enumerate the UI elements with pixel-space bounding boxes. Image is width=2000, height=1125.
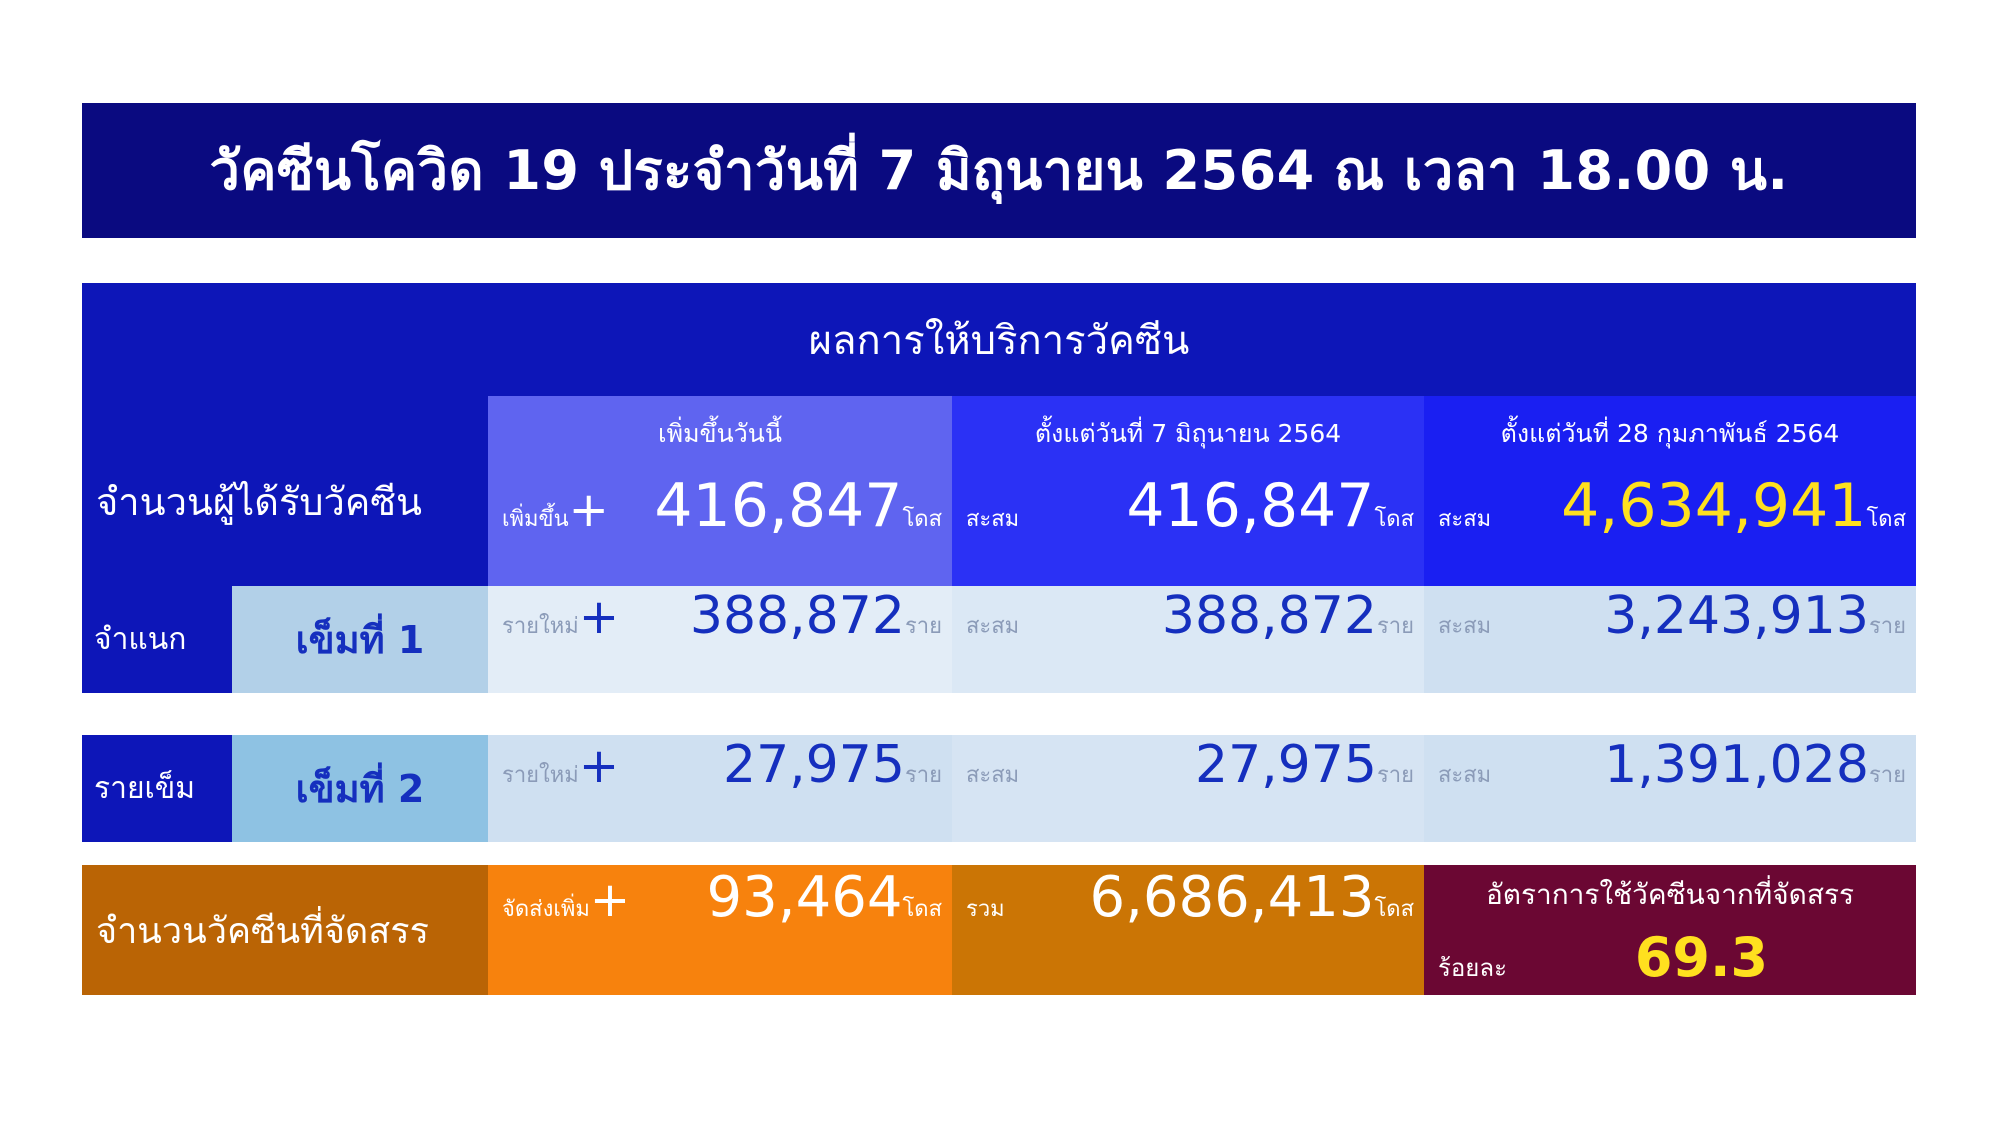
value-recipients-since-start: 4,634,941 — [1491, 471, 1866, 541]
utilization-rate-value: 69.3 — [1507, 926, 1896, 989]
cell-recipients-since-day: สะสม 416,847 โดส — [952, 471, 1424, 586]
column-header-today: เพิ่มขึ้นวันนี้ — [488, 396, 952, 471]
row-label-recipients-text: จำนวนผู้ได้รับวัคซีน — [96, 471, 422, 532]
tag-dose1-since-day: สะสม — [966, 608, 1019, 643]
cell-dose1-today: รายใหม่ + 388,872 ราย — [488, 586, 952, 693]
utilization-rate-box: อัตราการใช้วัคซีนจากที่จัดสรร ร้อยละ 69.… — [1424, 865, 1916, 995]
unit-recipients-since-day: โดส — [1374, 501, 1414, 536]
row-label-recipients: จำนวนผู้ได้รับวัคซีน — [82, 471, 488, 586]
plus-sign-allocated-today: + — [590, 872, 630, 928]
unit-allocated-today: โดส — [902, 891, 942, 926]
row-label-dose-2-text: เข็มที่ 2 — [296, 758, 425, 819]
value-dose2-today: 27,975 — [619, 735, 905, 795]
unit-recipients-today: โดส — [902, 501, 942, 536]
unit-dose2-today: ราย — [905, 757, 942, 792]
cell-recipients-today: เพิ่มขึ้น + 416,847 โดส — [488, 471, 952, 586]
utilization-rate-tag: ร้อยละ — [1438, 948, 1507, 987]
row-label-dose-1-text: เข็มที่ 1 — [296, 609, 425, 670]
tag-recipients-since-day: สะสม — [966, 501, 1019, 536]
cell-dose2-since-day: สะสม 27,975 ราย — [952, 735, 1424, 842]
unit-dose2-since-start: ราย — [1869, 757, 1906, 792]
page-title: วัคซีนโควิด 19 ประจำวันที่ 7 มิถุนายน 25… — [210, 141, 1789, 200]
row-label-per-dose-text: รายเข็ม — [94, 765, 195, 812]
tag-dose2-today: รายใหม่ — [502, 757, 579, 792]
unit-recipients-since-start: โดส — [1866, 501, 1906, 536]
column-header-spacer — [82, 396, 488, 471]
tag-dose2-since-start: สะสม — [1438, 757, 1491, 792]
value-recipients-today: 416,847 — [609, 471, 903, 541]
value-dose2-since-day: 27,975 — [1019, 735, 1377, 795]
vaccination-report-page: วัคซีนโควิด 19 ประจำวันที่ 7 มิถุนายน 25… — [0, 0, 2000, 1125]
cell-recipients-since-start: สะสม 4,634,941 โดส — [1424, 471, 1916, 586]
tag-allocated-today: จัดส่งเพิ่ม — [502, 891, 590, 926]
tag-dose1-since-start: สะสม — [1438, 608, 1491, 643]
cell-allocated-total: รวม 6,686,413 โดส — [952, 865, 1424, 995]
tag-dose1-today: รายใหม่ — [502, 608, 579, 643]
row-label-dose-1: เข็มที่ 1 — [232, 586, 488, 693]
row-label-allocated: จำนวนวัคซีนที่จัดสรร — [82, 865, 488, 995]
tag-recipients-today: เพิ่มขึ้น — [502, 501, 569, 536]
column-header-since-day: ตั้งแต่วันที่ 7 มิถุนายน 2564 — [952, 396, 1424, 471]
cell-dose2-since-start: สะสม 1,391,028 ราย — [1424, 735, 1916, 842]
value-allocated-total: 6,686,413 — [1005, 865, 1375, 930]
unit-dose1-since-day: ราย — [1377, 608, 1414, 643]
row-label-breakdown-text: จำแนก — [94, 616, 186, 663]
column-header-since-start: ตั้งแต่วันที่ 28 กุมภาพันธ์ 2564 — [1424, 396, 1916, 471]
unit-dose1-since-start: ราย — [1869, 608, 1906, 643]
utilization-rate-line: ร้อยละ 69.3 — [1438, 926, 1896, 989]
unit-allocated-total: โดส — [1374, 891, 1414, 926]
row-label-dose-2: เข็มที่ 2 — [232, 735, 488, 842]
value-recipients-since-day: 416,847 — [1019, 471, 1374, 541]
value-dose1-today: 388,872 — [619, 586, 905, 646]
row-label-per-dose: รายเข็ม — [82, 735, 232, 842]
row-label-allocated-text: จำนวนวัคซีนที่จัดสรร — [96, 902, 429, 959]
value-allocated-today: 93,464 — [630, 865, 902, 930]
report-title-banner: วัคซีนโควิด 19 ประจำวันที่ 7 มิถุนายน 25… — [82, 103, 1916, 238]
plus-sign-dose1-today: + — [579, 589, 619, 645]
unit-dose1-today: ราย — [905, 608, 942, 643]
plus-sign-recipients-today: + — [569, 482, 609, 538]
cell-dose2-today: รายใหม่ + 27,975 ราย — [488, 735, 952, 842]
cell-allocated-today: จัดส่งเพิ่ม + 93,464 โดส — [488, 865, 952, 995]
row-label-breakdown: จำแนก — [82, 586, 232, 693]
plus-sign-dose2-today: + — [579, 738, 619, 794]
value-dose1-since-day: 388,872 — [1019, 586, 1377, 646]
utilization-rate-title: อัตราการใช้วัคซีนจากที่จัดสรร — [1424, 873, 1916, 917]
cell-dose1-since-start: สะสม 3,243,913 ราย — [1424, 586, 1916, 693]
tag-allocated-total: รวม — [966, 891, 1005, 926]
tag-dose2-since-day: สะสม — [966, 757, 1019, 792]
value-dose1-since-start: 3,243,913 — [1491, 586, 1869, 646]
cell-dose1-since-day: สะสม 388,872 ราย — [952, 586, 1424, 693]
unit-dose2-since-day: ราย — [1377, 757, 1414, 792]
value-dose2-since-start: 1,391,028 — [1491, 735, 1869, 795]
section-header-vaccine-service: ผลการให้บริการวัคซีน — [82, 283, 1916, 396]
section-header-label: ผลการให้บริการวัคซีน — [809, 308, 1190, 372]
tag-recipients-since-start: สะสม — [1438, 501, 1491, 536]
